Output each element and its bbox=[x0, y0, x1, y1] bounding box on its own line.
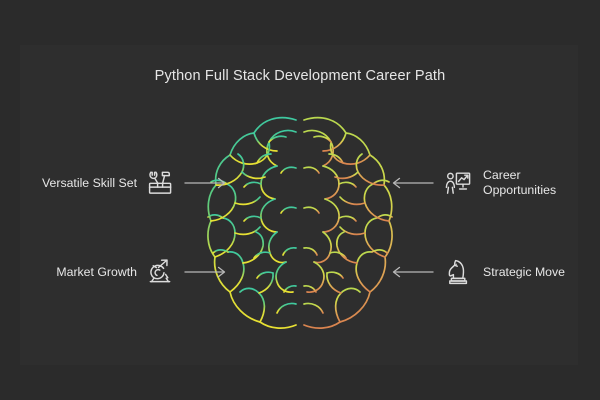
item-label-market-growth: Market Growth bbox=[56, 265, 137, 280]
arrow-right-icon-skill bbox=[184, 176, 230, 190]
chess-knight-icon bbox=[443, 257, 473, 287]
item-strategic-move[interactable]: Strategic Move bbox=[388, 252, 598, 292]
item-versatile-skill-set[interactable]: Versatile Skill Set bbox=[8, 163, 230, 203]
presentation-person-icon bbox=[443, 168, 473, 198]
brain-svg bbox=[200, 108, 400, 338]
brain-illustration bbox=[200, 108, 400, 338]
brain-left-hemisphere bbox=[208, 118, 296, 328]
item-market-growth[interactable]: Market Growth bbox=[8, 252, 230, 292]
item-career-opportunities[interactable]: Career Opportunities bbox=[388, 163, 598, 203]
infographic-canvas: Python Full Stack Development Career Pat… bbox=[0, 0, 600, 400]
arrow-left-icon-career bbox=[388, 176, 434, 190]
rocket-growth-icon bbox=[145, 257, 175, 287]
item-label-career-opportunities: Career Opportunities bbox=[483, 168, 556, 198]
toolbox-icon bbox=[145, 168, 175, 198]
page-title: Python Full Stack Development Career Pat… bbox=[0, 68, 600, 84]
arrow-right-icon-growth bbox=[184, 265, 230, 279]
item-label-strategic-move: Strategic Move bbox=[483, 265, 565, 280]
item-label-versatile-skill-set: Versatile Skill Set bbox=[42, 176, 137, 191]
arrow-left-icon-move bbox=[388, 265, 434, 279]
brain-right-hemisphere bbox=[304, 118, 392, 328]
